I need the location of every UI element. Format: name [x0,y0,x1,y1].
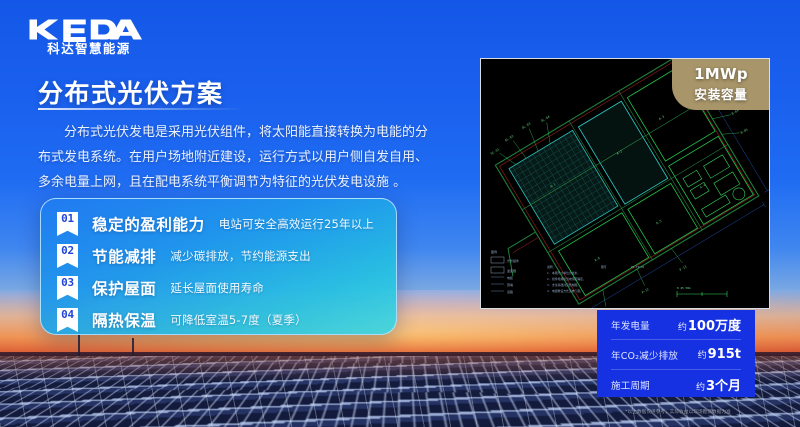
metric-row[interactable]: 年CO₂减少排放 约915t [611,339,741,369]
metric-row[interactable]: 施工周期 约3个月 [611,369,741,399]
feature-item[interactable]: 03 保护屋面 延长屋面使用寿命 [57,273,264,303]
feature-number: 03 [61,276,74,290]
key-metrics-panel: 年发电量 约100万度 年CO₂减少排放 约915t 施工周期 约3个月 [597,310,755,397]
svg-text:A-5: A-5 [655,219,662,225]
metric-value: 约3个月 [696,375,741,394]
svg-text:P-12: P-12 [641,287,650,294]
svg-text:A-3: A-3 [658,115,665,121]
cad-legend: 图例 光伏组件 逆变器 电缆 围墙 道路 说明： 1. 本图尺寸单位为毫米。 2… [491,249,727,297]
metric-prefix: 约 [696,383,705,393]
metric-prefix: 约 [678,323,687,333]
metric-value: 约100万度 [678,315,741,334]
feature-number: 02 [61,244,74,258]
svg-text:道路: 道路 [507,289,513,294]
feature-description: 延长屋面使用寿命 [170,280,264,296]
feature-number-badge-icon: 03 [57,276,78,300]
svg-text:电缆: 电缆 [507,275,513,280]
transmission-tower [132,338,134,356]
svg-text:GL-03: GL-03 [521,121,531,129]
svg-text:光伏组件: 光伏组件 [507,258,519,263]
svg-text:围墙: 围墙 [507,282,513,287]
capacity-badge: 1MWp 安装容量 [672,58,770,110]
svg-text:A-6: A-6 [594,256,601,262]
svg-text:P-13: P-13 [679,265,688,272]
svg-text:2. 组件倾角按当地纬度确定。: 2. 组件倾角按当地纬度确定。 [547,277,586,281]
feature-description: 电站可安全高效运行25年以上 [219,216,374,232]
svg-text:说明：: 说明： [547,265,555,269]
footnote-disclaimer: *以上数据仅供参考，实际收益以现场勘测数据为准 [560,409,796,415]
feature-description: 减少碳排放，节约能源支出 [170,248,310,264]
features-card: 01 稳定的盈利能力 电站可安全高效运行25年以上 02 节能减排 减少碳排放，… [40,198,397,335]
svg-text:1. 本图尺寸单位为毫米。: 1. 本图尺寸单位为毫米。 [547,271,580,275]
intro-paragraph: 分布式光伏发电是采用光伏组件，将太阳能直接转换为电能的分布式发电系统。在用户场地… [38,120,433,195]
feature-description: 可降低室温5-7度（夏季） [170,312,306,328]
metric-value: 约915t [698,347,741,362]
svg-text:B-05: B-05 [740,127,749,134]
feature-title: 保护屋面 [92,277,156,299]
svg-text:4. 电缆敷设方式见电气图。: 4. 电缆敷设方式见电气图。 [547,289,583,293]
svg-text:图例: 图例 [491,249,497,254]
page-title: 分布式光伏方案 [38,74,224,110]
svg-text:0 25 50m: 0 25 50m [677,286,691,290]
metric-number: 100万度 [688,319,741,334]
feature-number: 01 [61,212,74,226]
feature-title: 隔热保温 [92,309,156,331]
keda-wordmark-icon [27,17,152,42]
feature-item[interactable]: 02 节能减排 减少碳排放，节约能源支出 [57,241,311,271]
svg-text:GL-04: GL-04 [540,115,550,123]
metric-label: 施工周期 [611,378,650,392]
svg-text:逆变器: 逆变器 [507,268,516,273]
metric-label: 年CO₂减少排放 [611,348,678,362]
svg-text:GL-02: GL-02 [504,134,514,142]
feature-number: 04 [61,308,74,322]
feature-number-badge-icon: 04 [57,308,78,332]
feature-item[interactable]: 01 稳定的盈利能力 电站可安全高效运行25年以上 [57,209,374,239]
capacity-value: 1MWp [694,65,748,83]
metric-prefix: 约 [698,351,707,361]
brand-logo: 科达智慧能源 [27,17,151,56]
svg-text:GL-01: GL-01 [490,147,500,155]
brand-name-cn: 科达智慧能源 [27,43,151,56]
svg-text:图号: 图号 [601,265,607,269]
cad-site-plan-panel[interactable]: GL-01GL-02 GL-03GL-04 B-01B-02 B-03B-04 … [480,58,770,309]
metric-label: 年发电量 [611,318,650,332]
svg-text:3. 支架基础详见结构图。: 3. 支架基础详见结构图。 [547,283,580,287]
capacity-label: 安装容量 [694,84,747,103]
feature-title: 稳定的盈利能力 [92,213,205,235]
feature-number-badge-icon: 02 [57,244,78,268]
feature-title: 节能减排 [92,245,156,267]
slide-canvas: 科达智慧能源 分布式光伏方案 分布式光伏发电是采用光伏组件，将太阳能直接转换为电… [0,0,800,427]
metric-number: 915t [708,347,741,362]
metric-number: 3个月 [706,379,741,394]
feature-number-badge-icon: 01 [57,212,78,236]
svg-text:PV-TP-01: PV-TP-01 [631,265,645,269]
feature-item[interactable]: 04 隔热保温 可降低室温5-7度（夏季） [57,305,307,335]
metric-row[interactable]: 年发电量 约100万度 [611,310,741,339]
title-underline [38,108,244,110]
